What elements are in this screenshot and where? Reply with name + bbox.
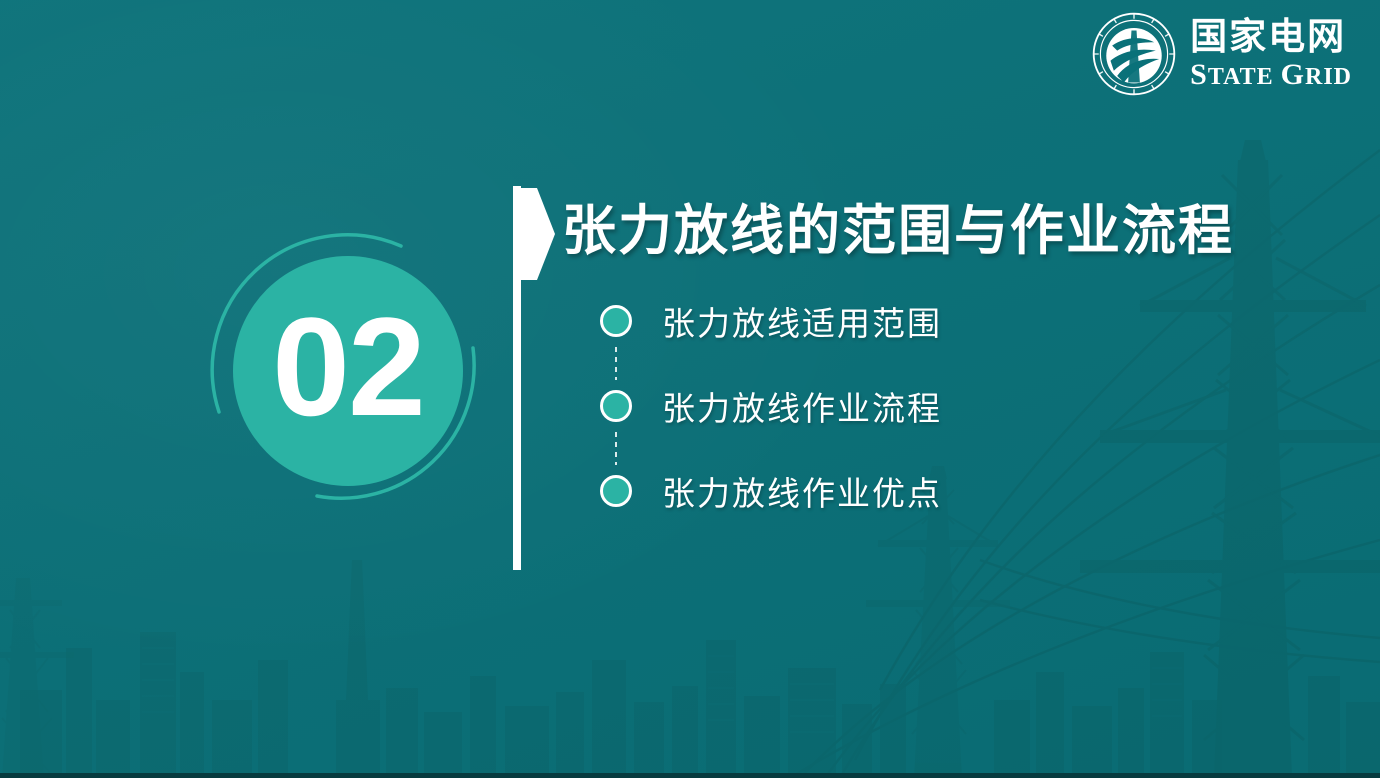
skyline-window-texture xyxy=(142,648,1182,732)
section-number-badge: 02 xyxy=(205,222,495,522)
logo-en-rid: RID xyxy=(1305,64,1352,90)
transmission-tower-silhouette-left xyxy=(0,578,74,778)
bullet-dot-icon xyxy=(600,305,632,337)
list-item[interactable]: 张力放线作业优点 xyxy=(600,465,1160,517)
logo-en-s: S xyxy=(1190,58,1208,91)
logo-en-g: G xyxy=(1281,58,1305,91)
bullet-dot-icon xyxy=(600,390,632,422)
bullet-connector-line xyxy=(615,347,617,380)
section-title: 张力放线的范围与作业流程 xyxy=(562,186,1234,265)
state-grid-emblem-icon xyxy=(1092,12,1176,96)
list-item-label: 张力放线作业优点 xyxy=(662,467,942,515)
logo-name-en: STATE GRID xyxy=(1190,60,1352,90)
bullet-dot-icon xyxy=(600,475,632,507)
bottom-edge-strip xyxy=(0,773,1380,778)
list-item[interactable]: 张力放线适用范围 xyxy=(600,295,1160,347)
bullet-connector-line xyxy=(615,432,617,465)
city-skyline-silhouette xyxy=(20,560,1380,778)
list-item-label: 张力放线适用范围 xyxy=(662,297,942,345)
section-item-list: 张力放线适用范围 张力放线作业流程 张力放线作业优点 xyxy=(600,295,1160,517)
list-item[interactable]: 张力放线作业流程 xyxy=(600,380,1160,432)
logo-name-cn: 国家电网 xyxy=(1190,18,1352,55)
badge-number-label: 02 xyxy=(272,297,424,437)
white-vertical-bar-with-arrow xyxy=(505,186,561,570)
presentation-slide: 国家电网 STATE GRID 02 张力放线的范围与作业流程 张力放线适用范围 xyxy=(0,0,1380,778)
list-item-label: 张力放线作业流程 xyxy=(662,382,942,430)
state-grid-logo: 国家电网 STATE GRID xyxy=(1092,12,1352,96)
badge-circle: 02 xyxy=(233,256,463,486)
logo-wordmark: 国家电网 STATE GRID xyxy=(1190,18,1352,90)
logo-en-tate: TATE xyxy=(1208,64,1274,90)
